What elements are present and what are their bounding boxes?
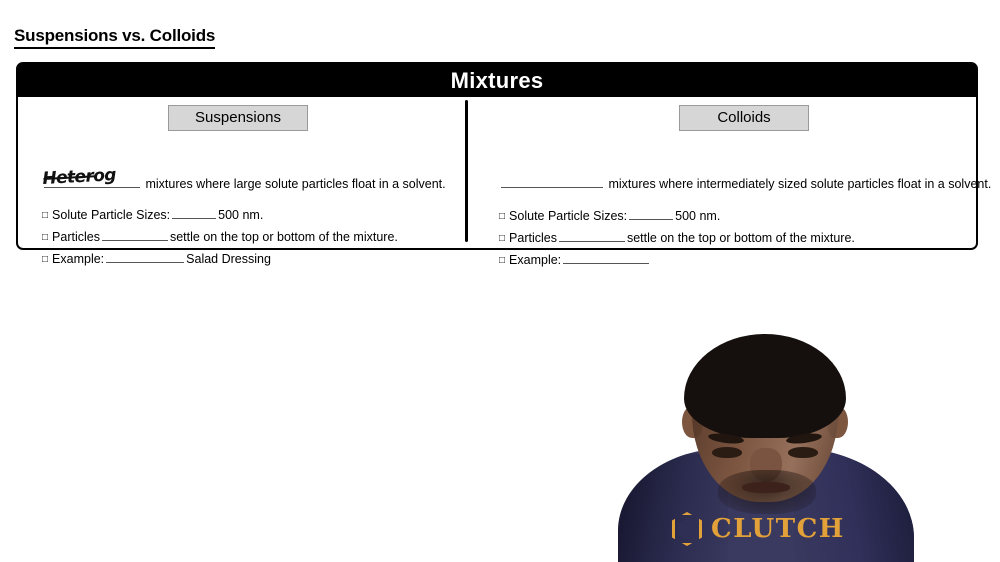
- bullet-label: Solute Particle Sizes:: [52, 208, 170, 222]
- card-banner: Mixtures: [18, 64, 976, 97]
- bullet-value: settle on the top or bottom of the mixtu…: [627, 231, 855, 245]
- column-colloids: Colloids mixtures where intermediately s…: [467, 97, 976, 248]
- heading-suspensions[interactable]: Suspensions: [168, 105, 308, 131]
- colloids-bullet-example: □Example:: [499, 252, 651, 269]
- checkbox-icon[interactable]: □: [42, 232, 48, 243]
- blank-example-suspensions[interactable]: [106, 251, 184, 263]
- suspensions-bullet-example: □Example:Salad Dressing: [42, 251, 271, 268]
- bullet-label: Example:: [509, 253, 561, 267]
- suspensions-bullet-settling: □Particlessettle on the top or bottom of…: [42, 229, 398, 246]
- presenter-eye-left: [712, 447, 742, 458]
- bullet-value: 500 nm.: [675, 209, 720, 223]
- bullet-value: Salad Dressing: [186, 252, 271, 266]
- bullet-label: Particles: [52, 230, 100, 244]
- checkbox-icon[interactable]: □: [42, 210, 48, 221]
- presenter-video: CLUTCH: [600, 330, 930, 562]
- checkbox-icon[interactable]: □: [499, 211, 505, 222]
- blank-definition-colloids[interactable]: [501, 176, 603, 188]
- presenter-mouth: [742, 482, 790, 493]
- blank-settling-colloids[interactable]: [559, 230, 625, 242]
- suspensions-definition-text: mixtures where large solute particles fl…: [145, 177, 445, 191]
- bullet-label: Particles: [509, 231, 557, 245]
- blank-particle-size-suspensions[interactable]: [172, 207, 216, 219]
- colloids-definition-text: mixtures where intermediately sized solu…: [608, 177, 991, 191]
- handwritten-answer-heterogeneous: Heterog: [42, 165, 116, 189]
- blank-settling-suspensions[interactable]: [102, 229, 168, 241]
- bullet-value: 500 nm.: [218, 208, 263, 222]
- hexagon-icon: [672, 512, 702, 546]
- blank-example-colloids[interactable]: [563, 252, 649, 264]
- clutch-logo: CLUTCH: [672, 512, 845, 546]
- bullet-value: settle on the top or bottom of the mixtu…: [170, 230, 398, 244]
- colloids-bullet-particle-size: □Solute Particle Sizes:500 nm.: [499, 208, 720, 225]
- page-title: Suspensions vs. Colloids: [14, 27, 215, 49]
- column-suspensions: Suspensions mixtures where large solute …: [18, 97, 465, 248]
- mixtures-card: Mixtures Suspensions mixtures where larg…: [16, 62, 978, 250]
- heading-colloids[interactable]: Colloids: [679, 105, 809, 131]
- presenter-eye-right: [788, 447, 818, 458]
- checkbox-icon[interactable]: □: [499, 255, 505, 266]
- columns-container: Suspensions mixtures where large solute …: [18, 97, 976, 248]
- checkbox-icon[interactable]: □: [42, 254, 48, 265]
- bullet-label: Example:: [52, 252, 104, 266]
- suspensions-bullet-particle-size: □Solute Particle Sizes:500 nm.: [42, 207, 263, 224]
- colloids-definition: mixtures where intermediately sized solu…: [499, 176, 991, 191]
- colloids-bullet-settling: □Particlessettle on the top or bottom of…: [499, 230, 855, 247]
- bullet-label: Solute Particle Sizes:: [509, 209, 627, 223]
- blank-particle-size-colloids[interactable]: [629, 208, 673, 220]
- clutch-logo-text: CLUTCH: [711, 516, 845, 542]
- checkbox-icon[interactable]: □: [499, 233, 505, 244]
- card-banner-title: Mixtures: [451, 68, 544, 94]
